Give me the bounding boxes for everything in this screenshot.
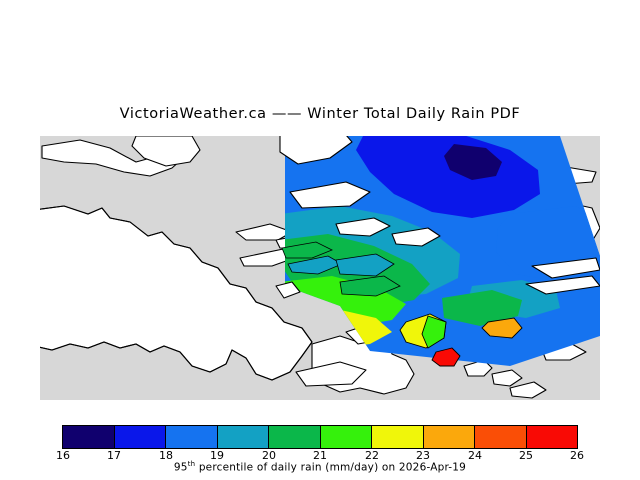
colorbar-caption-prefix: 95: [174, 462, 188, 474]
colorbar-band-18-19[interactable]: [166, 426, 218, 448]
colorbar-band-17-18[interactable]: [115, 426, 167, 448]
land-islet-3: [510, 382, 546, 398]
colorbar-band-21-22[interactable]: [321, 426, 373, 448]
colorbar-caption: 95th percentile of daily rain (mm/day) o…: [0, 460, 640, 474]
colorbar-caption-rest: percentile of daily rain (mm/day) on 202…: [195, 462, 466, 474]
colorbar-band-16-17[interactable]: [63, 426, 115, 448]
colorbar-band-19-20[interactable]: [218, 426, 270, 448]
colorbar[interactable]: [62, 425, 578, 449]
land-islet-2: [492, 370, 522, 386]
land-mid-sliver-1: [236, 224, 292, 240]
map-canvas[interactable]: [40, 136, 600, 400]
colorbar-band-20-21[interactable]: [269, 426, 321, 448]
colorbar-band-24-25[interactable]: [475, 426, 527, 448]
colorbar-band-25-26[interactable]: [527, 426, 578, 448]
map-panel[interactable]: [40, 136, 600, 400]
colorbar-band-23-24[interactable]: [424, 426, 476, 448]
weather-map-page: VictoriaWeather.ca —— Winter Total Daily…: [0, 0, 640, 480]
colorbar-band-22-23[interactable]: [372, 426, 424, 448]
page-title: VictoriaWeather.ca —— Winter Total Daily…: [0, 106, 640, 122]
